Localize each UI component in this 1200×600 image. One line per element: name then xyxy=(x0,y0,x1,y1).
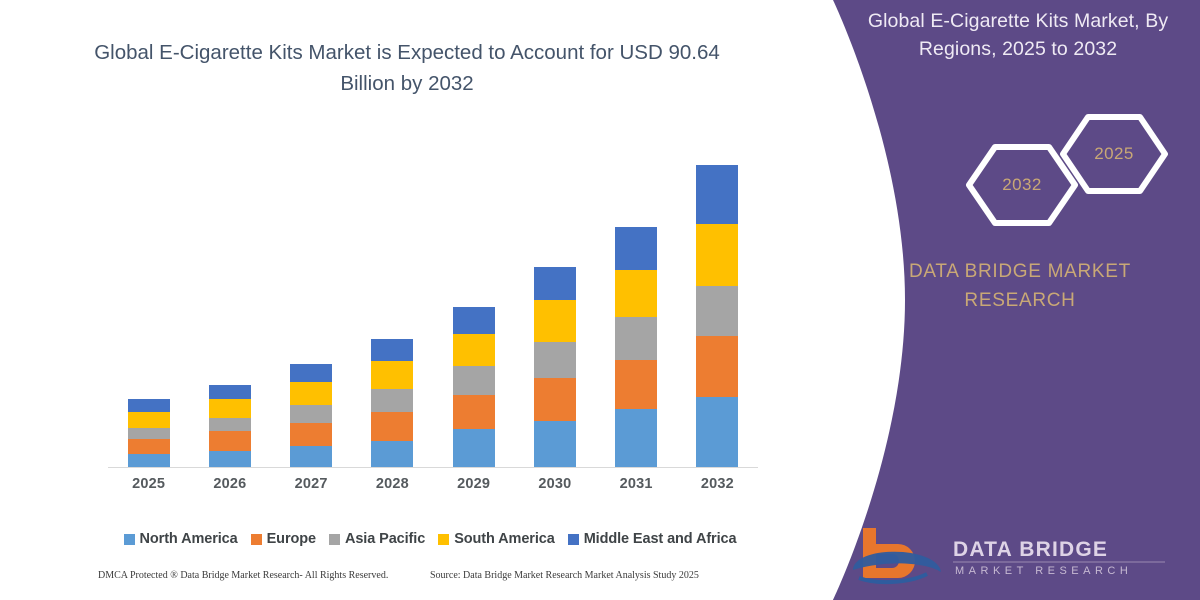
legend-item-north-america[interactable]: North America xyxy=(124,531,238,547)
bar-segment-south-america xyxy=(696,224,738,286)
bar-column-2025 xyxy=(108,150,189,467)
bar-segment-asia-pacific xyxy=(615,317,657,360)
bar-group xyxy=(108,150,758,467)
bar-segment-asia-pacific xyxy=(209,418,251,432)
legend-label: South America xyxy=(454,531,555,547)
x-axis-label-2031: 2031 xyxy=(596,476,677,492)
bar-segment-north-america xyxy=(615,409,657,467)
bar-stack xyxy=(371,339,413,467)
bar-segment-south-america xyxy=(209,399,251,417)
bar-segment-north-america xyxy=(290,446,332,467)
bar-segment-middle-east-and-africa xyxy=(290,364,332,382)
bar-segment-europe xyxy=(128,439,170,454)
x-axis-labels: 20252026202720282029203020312032 xyxy=(108,476,758,492)
bar-segment-south-america xyxy=(371,361,413,389)
bar-column-2031 xyxy=(596,150,677,467)
infographic-canvas: Global E-Cigarette Kits Market is Expect… xyxy=(0,0,1200,600)
legend-item-south-america[interactable]: South America xyxy=(438,531,555,547)
bar-segment-europe xyxy=(371,412,413,441)
bar-segment-middle-east-and-africa xyxy=(615,227,657,270)
bar-column-2030 xyxy=(514,150,595,467)
bar-segment-north-america xyxy=(453,429,495,467)
bar-segment-asia-pacific xyxy=(371,389,413,411)
chart-legend: North AmericaEuropeAsia PacificSouth Ame… xyxy=(100,531,760,547)
bar-segment-asia-pacific xyxy=(128,428,170,439)
footer-source: Source: Data Bridge Market Research Mark… xyxy=(430,570,699,581)
bar-segment-middle-east-and-africa xyxy=(128,399,170,412)
hexagon-2025: 2025 xyxy=(1058,112,1170,196)
bar-segment-south-america xyxy=(615,270,657,317)
panel-content: Global E-Cigarette Kits Market, By Regio… xyxy=(840,0,1200,600)
bar-segment-middle-east-and-africa xyxy=(534,267,576,301)
bar-segment-middle-east-and-africa xyxy=(696,165,738,224)
legend-swatch-icon xyxy=(124,534,135,545)
bar-segment-north-america xyxy=(209,451,251,467)
hexagon-group: 2032 2025 xyxy=(958,112,1188,228)
bar-stack xyxy=(534,267,576,467)
x-axis-label-2032: 2032 xyxy=(677,476,758,492)
x-axis-line xyxy=(108,467,758,468)
bar-segment-europe xyxy=(696,336,738,397)
bar-segment-south-america xyxy=(534,300,576,342)
bar-segment-europe xyxy=(290,423,332,446)
bar-segment-south-america xyxy=(453,334,495,366)
bar-segment-south-america xyxy=(128,412,170,428)
bar-column-2026 xyxy=(189,150,270,467)
bar-column-2028 xyxy=(352,150,433,467)
panel-title: Global E-Cigarette Kits Market, By Regio… xyxy=(850,8,1186,63)
bar-stack xyxy=(128,399,170,467)
bar-segment-south-america xyxy=(290,382,332,405)
bar-stack xyxy=(615,227,657,467)
bar-stack xyxy=(696,165,738,467)
legend-swatch-icon xyxy=(438,534,449,545)
x-axis-label-2029: 2029 xyxy=(433,476,514,492)
bar-segment-europe xyxy=(534,378,576,421)
bar-segment-asia-pacific xyxy=(290,405,332,423)
svg-text:MARKET RESEARCH: MARKET RESEARCH xyxy=(955,565,1132,577)
bar-segment-north-america xyxy=(371,441,413,467)
bar-column-2027 xyxy=(271,150,352,467)
bar-column-2032 xyxy=(677,150,758,467)
x-axis-label-2027: 2027 xyxy=(271,476,352,492)
svg-text:DATA BRIDGE: DATA BRIDGE xyxy=(953,538,1108,561)
hexagon-2032-label: 2032 xyxy=(1002,175,1041,195)
bar-segment-north-america xyxy=(534,421,576,467)
x-axis-label-2028: 2028 xyxy=(352,476,433,492)
legend-swatch-icon xyxy=(329,534,340,545)
legend-item-middle-east-and-africa[interactable]: Middle East and Africa xyxy=(568,531,737,547)
bar-segment-asia-pacific xyxy=(696,286,738,336)
bar-stack xyxy=(453,307,495,467)
bar-segment-north-america xyxy=(128,454,170,467)
x-axis-label-2025: 2025 xyxy=(108,476,189,492)
bar-stack xyxy=(209,385,251,467)
bar-segment-asia-pacific xyxy=(534,342,576,378)
legend-item-asia-pacific[interactable]: Asia Pacific xyxy=(329,531,425,547)
bar-segment-europe xyxy=(615,360,657,409)
bar-column-2029 xyxy=(433,150,514,467)
legend-swatch-icon xyxy=(568,534,579,545)
legend-label: Europe xyxy=(267,531,316,547)
hexagon-2025-label: 2025 xyxy=(1094,144,1133,164)
bar-stack xyxy=(290,364,332,468)
footer-copyright: DMCA Protected ® Data Bridge Market Rese… xyxy=(98,570,388,581)
bar-segment-north-america xyxy=(696,397,738,467)
legend-item-europe[interactable]: Europe xyxy=(251,531,316,547)
legend-swatch-icon xyxy=(251,534,262,545)
bar-segment-middle-east-and-africa xyxy=(371,339,413,361)
bar-segment-middle-east-and-africa xyxy=(453,307,495,334)
x-axis-label-2026: 2026 xyxy=(189,476,270,492)
company-logo: DATA BRIDGE MARKET RESEARCH xyxy=(845,522,1195,592)
bar-segment-europe xyxy=(209,431,251,450)
brand-name: DATA BRIDGE MARKET RESEARCH xyxy=(864,258,1176,315)
legend-label: Middle East and Africa xyxy=(584,531,737,547)
bar-segment-asia-pacific xyxy=(453,366,495,394)
legend-label: Asia Pacific xyxy=(345,531,425,547)
bar-segment-europe xyxy=(453,395,495,430)
bar-segment-middle-east-and-africa xyxy=(209,385,251,399)
chart-plot-area: 20252026202720282029203020312032 xyxy=(0,0,800,600)
legend-label: North America xyxy=(140,531,238,547)
x-axis-label-2030: 2030 xyxy=(514,476,595,492)
